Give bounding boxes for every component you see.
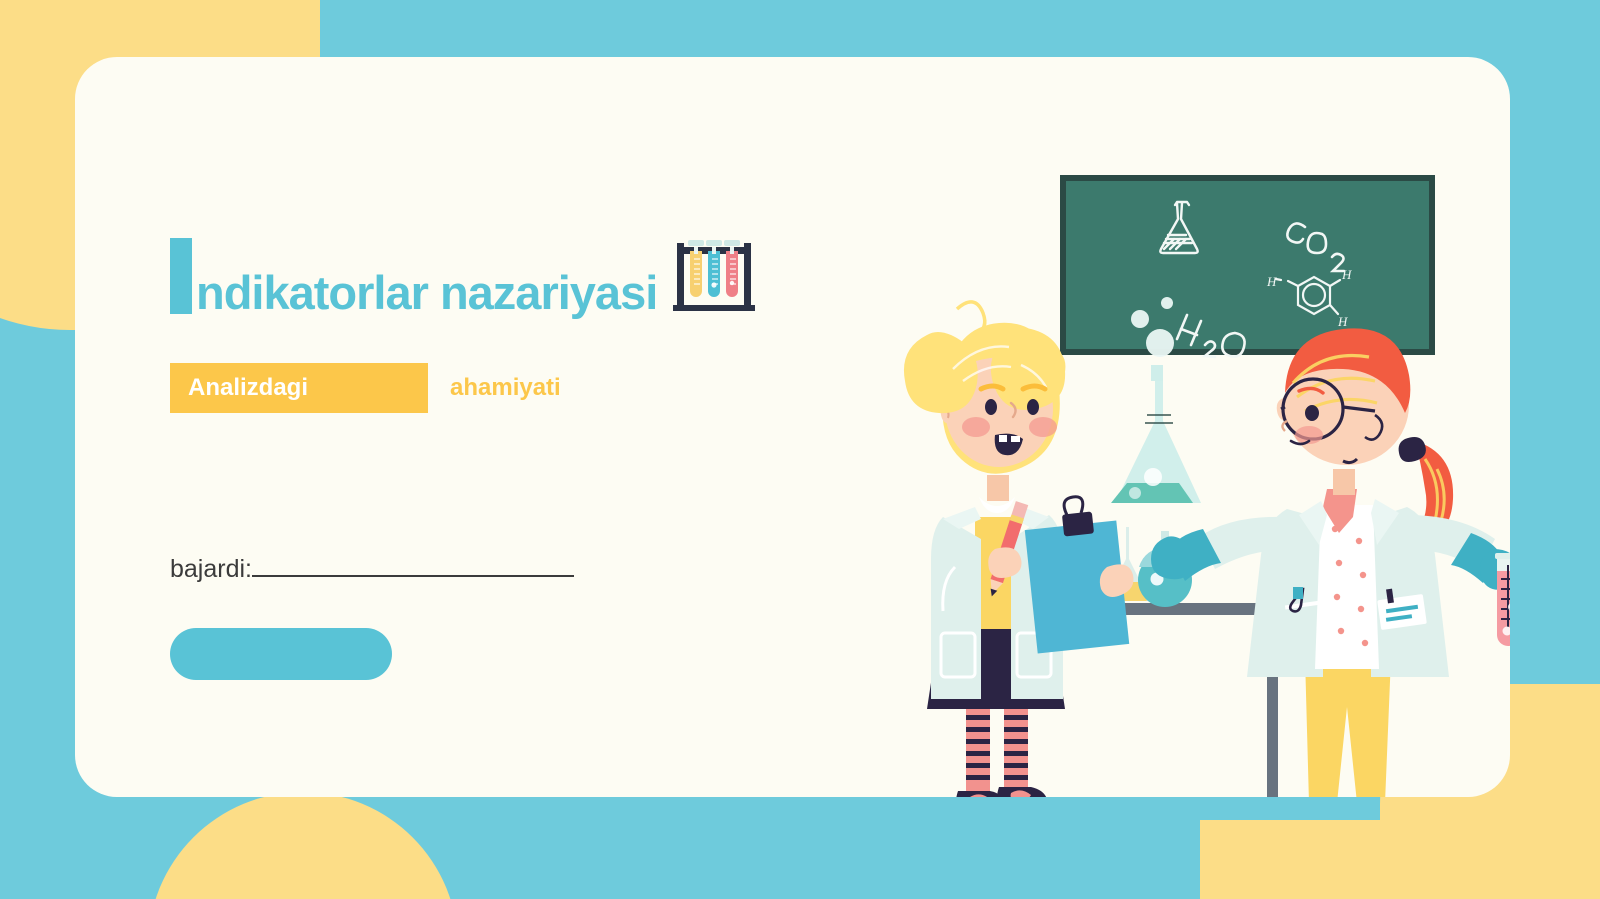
test-tube-rack-icon: [671, 237, 757, 313]
lab-illustration: H H H: [835, 97, 1510, 797]
author-field-row: bajardi:: [170, 555, 810, 584]
title-text: ndikatorlar nazariyasi: [196, 270, 657, 315]
benzene-h-topright: H: [1341, 267, 1352, 282]
blackboard: H H H: [1060, 175, 1435, 357]
subtitle-plain: ahamiyati: [450, 376, 561, 400]
main-card: ndikatorlar nazariyasi: [75, 57, 1510, 797]
benzene-h-left: H: [1266, 274, 1277, 289]
subtitle-highlight: Analizdagi: [170, 363, 428, 413]
subtitle-row: Analizdagi ahamiyati: [170, 363, 810, 413]
content-column: ndikatorlar nazariyasi: [170, 237, 810, 680]
character-redhead-girl: [1111, 297, 1510, 797]
benzene-h-bottomright: H: [1337, 314, 1348, 329]
title-initial-bar: [170, 238, 192, 314]
author-label: bajardi:: [170, 555, 252, 584]
cta-button[interactable]: [170, 628, 392, 680]
author-input-line[interactable]: [252, 575, 574, 577]
background-circle-bottom-left: [148, 792, 458, 899]
page-title: ndikatorlar nazariyasi: [170, 237, 810, 315]
character-blonde-girl: [904, 302, 1134, 797]
